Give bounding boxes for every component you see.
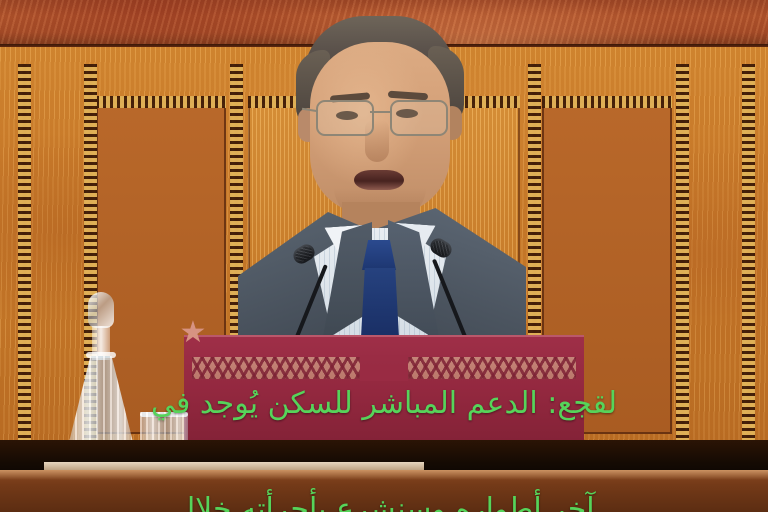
eyeglasses-bridge	[370, 111, 390, 113]
inlay-band-h-right	[542, 96, 672, 108]
podium-band-star-gap	[360, 355, 408, 381]
eyeglasses-lens-right	[390, 100, 448, 136]
eyeglasses-lens-left	[316, 100, 374, 136]
desk-highlight	[0, 470, 768, 480]
podium-decorative-band	[192, 357, 576, 379]
inlay-band-h-left	[96, 96, 226, 108]
inlay-band-5	[676, 64, 689, 454]
inlay-band-1	[18, 64, 31, 454]
mouth	[354, 170, 404, 190]
eyeglasses-icon	[316, 100, 444, 134]
decanter-stopper	[88, 292, 114, 328]
wooden-desk	[0, 470, 768, 512]
inlay-band-6	[742, 64, 755, 454]
speaker-person	[230, 16, 530, 346]
moroccan-star-icon: ★	[178, 318, 208, 348]
screenshot-root: ★ لقجع: الدعم المباشر للسكن يُوجد في آخر…	[0, 0, 768, 512]
